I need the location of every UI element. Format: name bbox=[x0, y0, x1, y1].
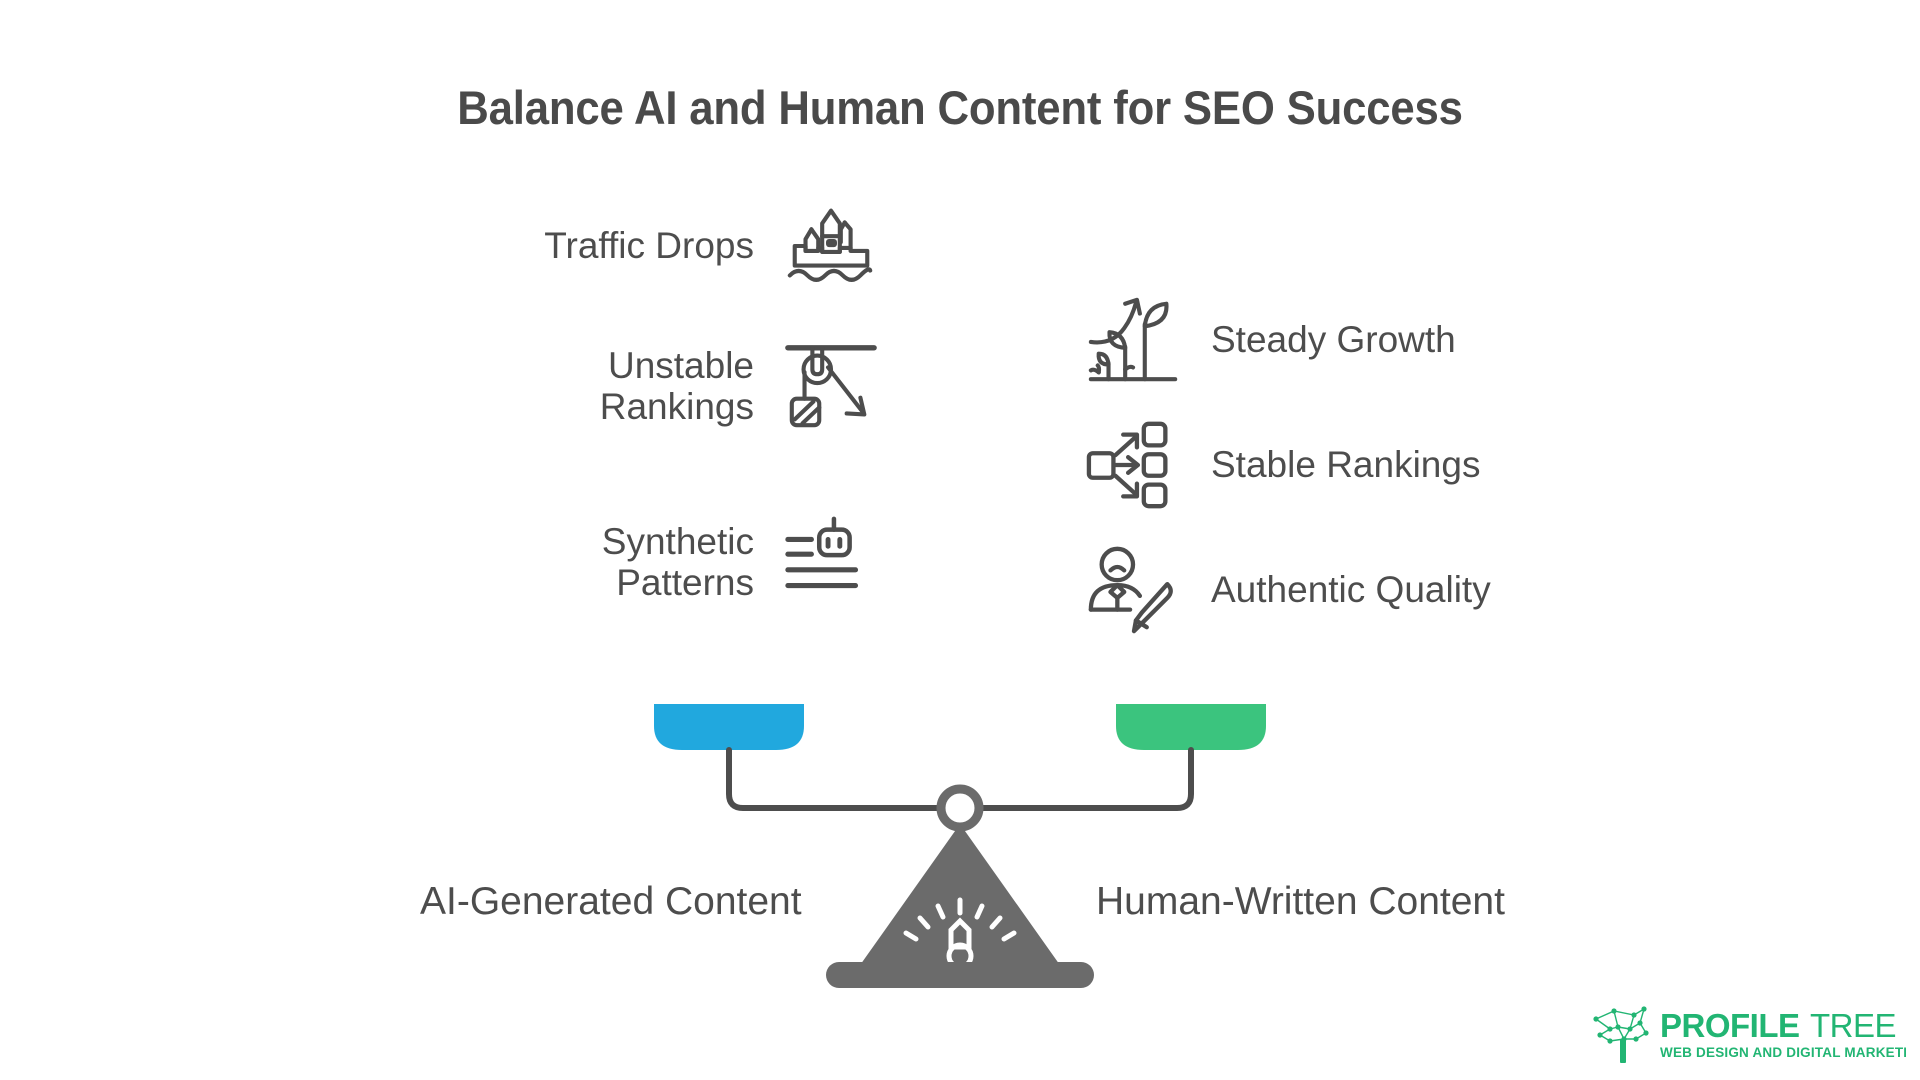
pulley-weight-icon bbox=[782, 337, 880, 435]
left-item-label: Traffic Drops bbox=[544, 225, 754, 266]
right-item-label: Steady Growth bbox=[1211, 319, 1456, 360]
right-item-label: Authentic Quality bbox=[1211, 569, 1491, 610]
balance-pivot bbox=[941, 789, 979, 827]
left-item-label: Synthetic Patterns bbox=[602, 521, 754, 604]
infographic-canvas: Balance AI and Human Content for SEO Suc… bbox=[0, 0, 1920, 1080]
right-pan bbox=[1116, 704, 1266, 750]
left-item-traffic-drops: Traffic Drops bbox=[544, 197, 880, 295]
profiletree-logo[interactable]: PROFILE TREE WEB DESIGN AND DIGITAL MARK… bbox=[1588, 1005, 1906, 1067]
left-item-label: Unstable Rankings bbox=[600, 345, 754, 428]
bottom-label-ai-generated: AI-Generated Content bbox=[420, 880, 802, 924]
right-item-authentic-quality: Authentic Quality bbox=[1085, 541, 1491, 639]
left-pan bbox=[654, 704, 804, 750]
right-item-label: Stable Rankings bbox=[1211, 444, 1480, 485]
balance-scale bbox=[654, 700, 1266, 1010]
distribution-nodes-icon bbox=[1085, 416, 1183, 514]
robot-text-icon bbox=[782, 513, 880, 611]
bottom-label-human-written: Human-Written Content bbox=[1096, 880, 1505, 924]
right-item-steady-growth: Steady Growth bbox=[1085, 291, 1456, 389]
left-item-synthetic-patterns: Synthetic Patterns bbox=[602, 513, 880, 611]
left-item-unstable-rankings: Unstable Rankings bbox=[600, 337, 880, 435]
sinking-castle-icon bbox=[782, 197, 880, 295]
pedestal-base bbox=[826, 962, 1094, 988]
growing-plant-icon bbox=[1085, 291, 1183, 389]
person-pencil-icon bbox=[1085, 541, 1183, 639]
logo-tagline: WEB DESIGN AND DIGITAL MARKETING bbox=[1660, 1045, 1906, 1060]
logo-brand-light: TREE bbox=[1810, 1007, 1896, 1044]
page-title: Balance AI and Human Content for SEO Suc… bbox=[67, 80, 1853, 135]
right-item-stable-rankings: Stable Rankings bbox=[1085, 416, 1480, 514]
logo-brand-bold: PROFILE bbox=[1660, 1007, 1800, 1044]
